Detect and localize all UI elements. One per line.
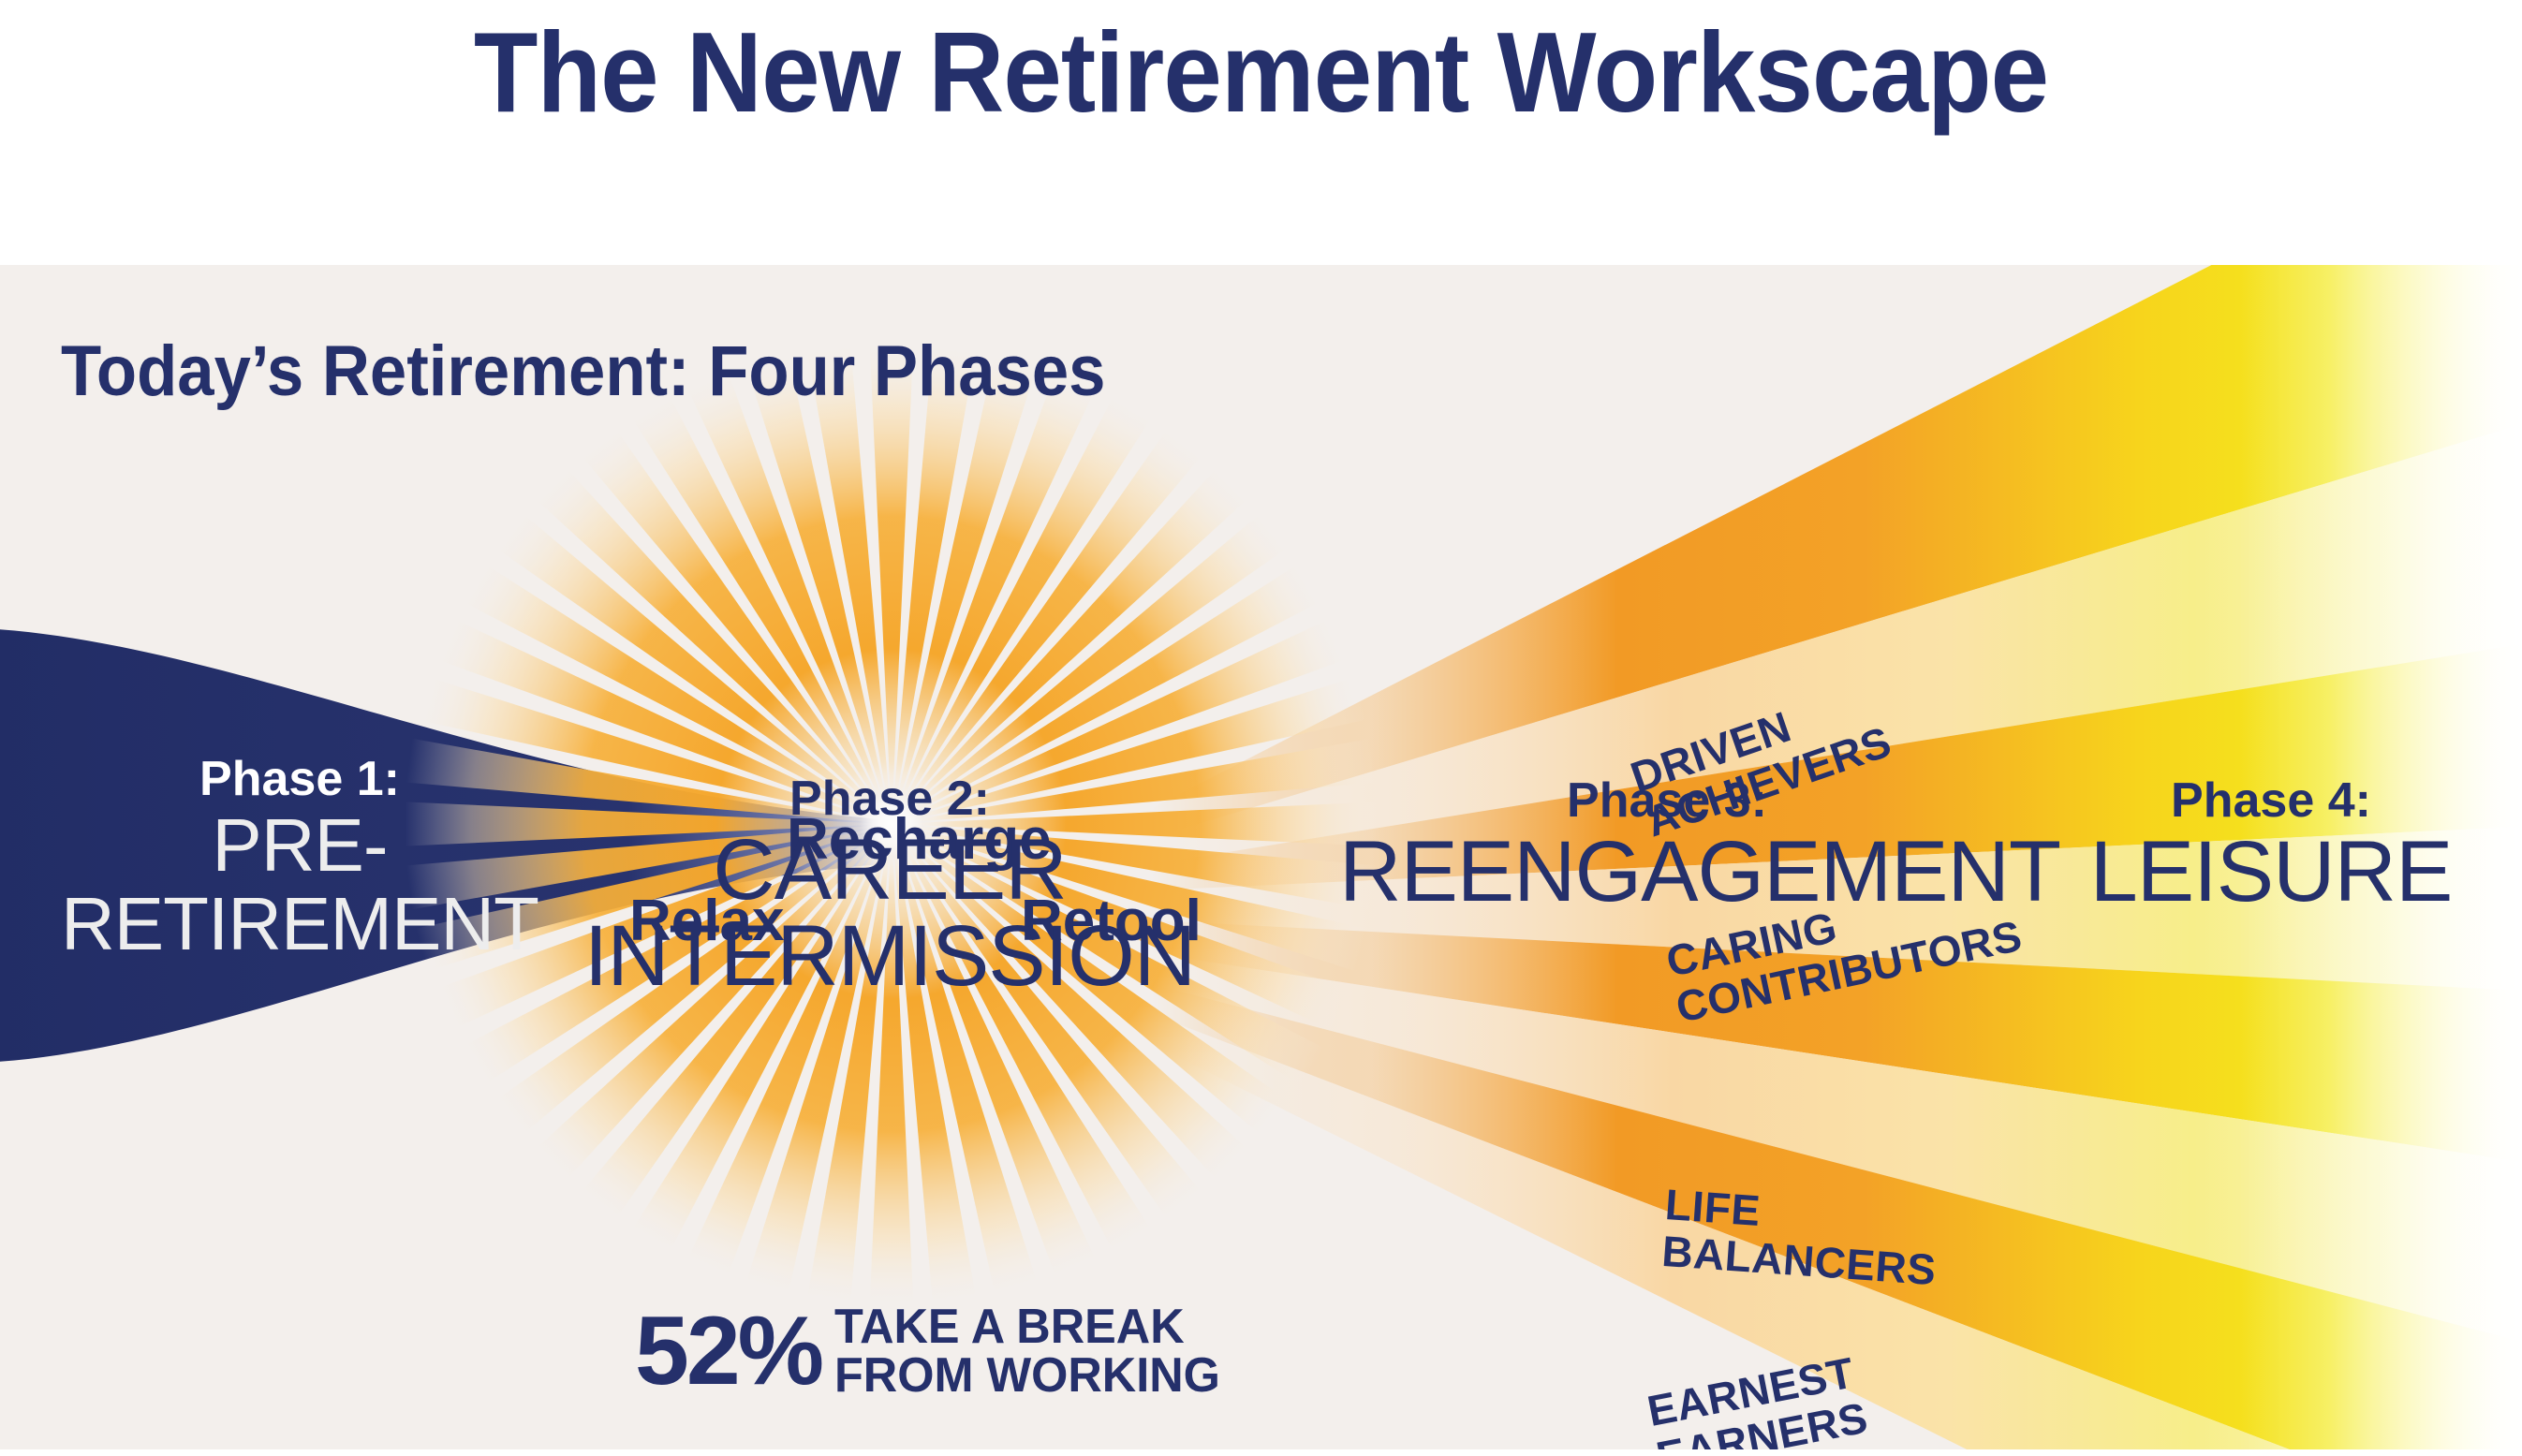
infographic-panel: Today’s Retirement: Four Phases Phase 1:… (0, 265, 2522, 1456)
break-stat: 52% TAKE A BREAK FROM WORKING (635, 1302, 1232, 1400)
phase-2-name-line2: INTERMISSION (309, 913, 1470, 999)
phase-2-name: CAREER INTERMISSION (309, 827, 1470, 999)
break-stat-value: 52% (635, 1302, 821, 1400)
panel-bottom-spacer (0, 1449, 2522, 1456)
break-stat-label-line2: FROM WORKING (834, 1351, 1220, 1400)
segment-label-life-balancers: LIFE BALANCERS (1660, 1181, 1941, 1293)
phase-2-name-line1: CAREER (309, 827, 1470, 913)
phase-4-kicker: Phase 4: (2056, 772, 2486, 829)
phase-4-label: Phase 4: LEISURE (2056, 772, 2486, 915)
phase-2-kicker: Phase 2: (309, 771, 1470, 827)
page-title: The New Retirement Workscape (101, 2, 2422, 152)
panel-subtitle: Today’s Retirement: Four Phases (61, 331, 1105, 412)
phase-4-name: LEISURE (2056, 829, 2486, 915)
break-stat-label-line1: TAKE A BREAK (834, 1302, 1220, 1351)
phase-2-label: Phase 2: CAREER INTERMISSION (309, 771, 1470, 999)
break-stat-label: TAKE A BREAK FROM WORKING (834, 1302, 1232, 1400)
